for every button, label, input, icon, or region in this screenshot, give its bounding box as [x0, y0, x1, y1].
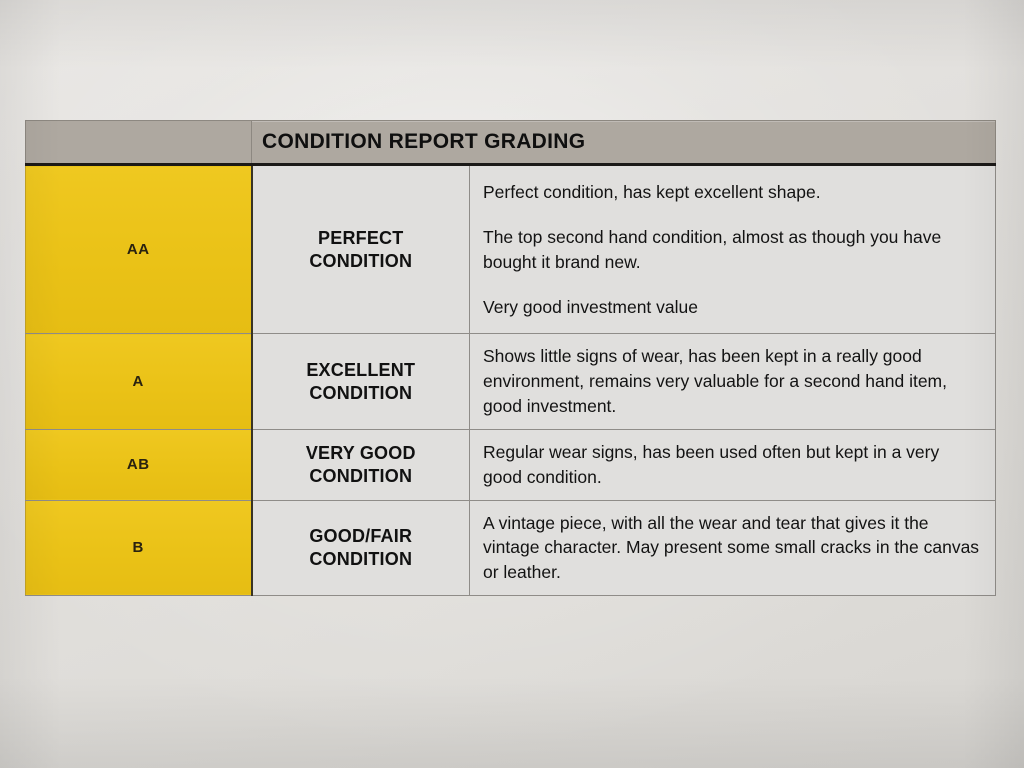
table-title: CONDITION REPORT GRADING [252, 121, 996, 165]
table-row: AB VERY GOOD CONDITION Regular wear sign… [26, 429, 996, 500]
table-header-row: CONDITION REPORT GRADING [26, 121, 996, 165]
condition-description-aa: Perfect condition, has kept excellent sh… [470, 165, 996, 334]
description-paragraph: Regular wear signs, has been used often … [483, 440, 983, 490]
table-row: B GOOD/FAIR CONDITION A vintage piece, w… [26, 500, 996, 596]
condition-label-line1: VERY GOOD [306, 443, 416, 463]
condition-report-grading-table-container: CONDITION REPORT GRADING AA PERFECT COND… [25, 120, 995, 596]
grade-cell-ab: AB [26, 429, 252, 500]
condition-label-b: GOOD/FAIR CONDITION [252, 500, 470, 596]
description-paragraph: Perfect condition, has kept excellent sh… [483, 180, 983, 205]
condition-label-aa: PERFECT CONDITION [252, 165, 470, 334]
grade-cell-b: B [26, 500, 252, 596]
grade-cell-aa: AA [26, 165, 252, 334]
condition-description-b: A vintage piece, with all the wear and t… [470, 500, 996, 596]
condition-label-line2: CONDITION [309, 466, 412, 486]
condition-description-ab: Regular wear signs, has been used often … [470, 429, 996, 500]
table-row: AA PERFECT CONDITION Perfect condition, … [26, 165, 996, 334]
condition-report-grading-table: CONDITION REPORT GRADING AA PERFECT COND… [25, 120, 996, 596]
grade-cell-a: A [26, 334, 252, 430]
description-paragraph: The top second hand condition, almost as… [483, 225, 983, 275]
condition-label-a: EXCELLENT CONDITION [252, 334, 470, 430]
condition-label-line1: GOOD/FAIR [309, 526, 412, 546]
condition-label-line1: EXCELLENT [306, 360, 415, 380]
header-spacer-cell [26, 121, 252, 165]
description-paragraph: Very good investment value [483, 295, 983, 320]
description-paragraph: Shows little signs of wear, has been kep… [483, 344, 983, 419]
condition-label-line2: CONDITION [309, 549, 412, 569]
description-paragraph: A vintage piece, with all the wear and t… [483, 511, 983, 586]
condition-label-ab: VERY GOOD CONDITION [252, 429, 470, 500]
condition-label-line2: CONDITION [309, 383, 412, 403]
condition-label-line2: CONDITION [309, 251, 412, 271]
condition-label-line1: PERFECT [318, 228, 403, 248]
condition-description-a: Shows little signs of wear, has been kep… [470, 334, 996, 430]
table-row: A EXCELLENT CONDITION Shows little signs… [26, 334, 996, 430]
